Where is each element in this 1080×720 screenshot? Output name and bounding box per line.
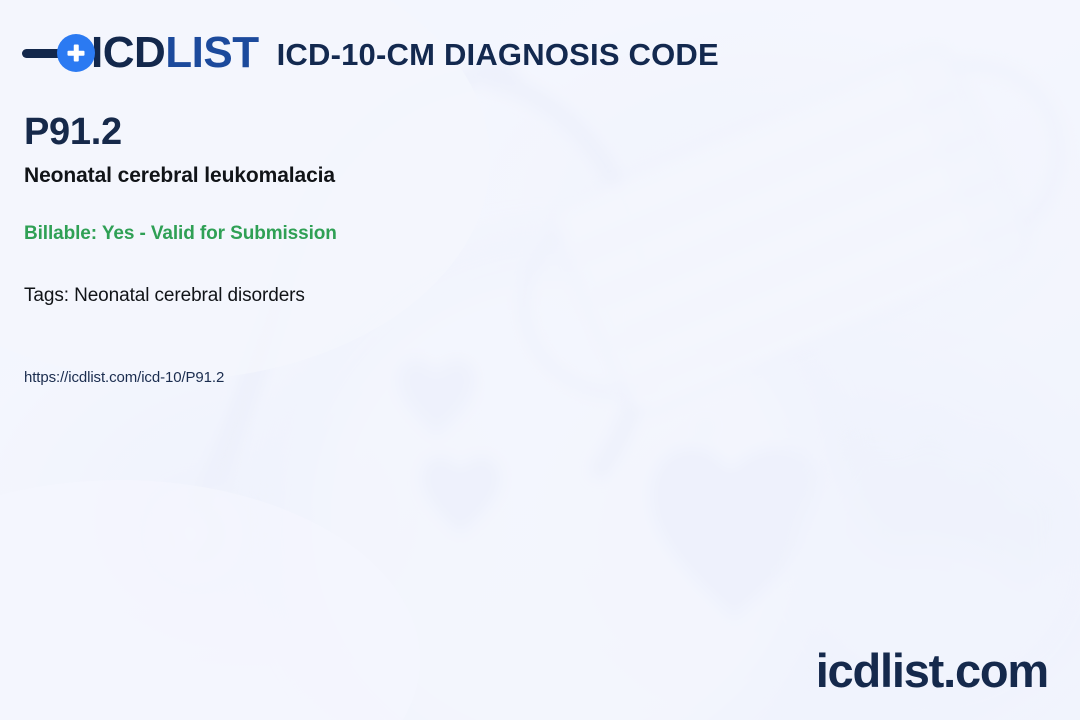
source-url[interactable]: https://icdlist.com/icd-10/P91.2 xyxy=(24,369,664,386)
code-details: P91.2 Neonatal cerebral leukomalacia Bil… xyxy=(24,112,664,386)
icd-code-card: ICDLIST ICD-10-CM DIAGNOSIS CODE P91.2 N… xyxy=(0,0,1080,720)
logo-wordmark: ICDLIST xyxy=(91,31,259,75)
logo-word-primary: ICD xyxy=(91,28,165,77)
tags-line: Tags: Neonatal cerebral disorders xyxy=(24,285,664,307)
header-title: ICD-10-CM DIAGNOSIS CODE xyxy=(277,39,719,70)
plus-circle-icon xyxy=(57,34,95,72)
diagnosis-description: Neonatal cerebral leukomalacia xyxy=(24,163,664,189)
icdlist-logo[interactable]: ICDLIST xyxy=(22,29,259,77)
billable-status: Billable: Yes - Valid for Submission xyxy=(24,223,664,245)
logo-word-secondary: LIST xyxy=(165,28,258,77)
diagnosis-code: P91.2 xyxy=(24,112,664,153)
site-watermark: icdlist.com xyxy=(816,647,1048,694)
header: ICDLIST ICD-10-CM DIAGNOSIS CODE xyxy=(22,22,1080,84)
